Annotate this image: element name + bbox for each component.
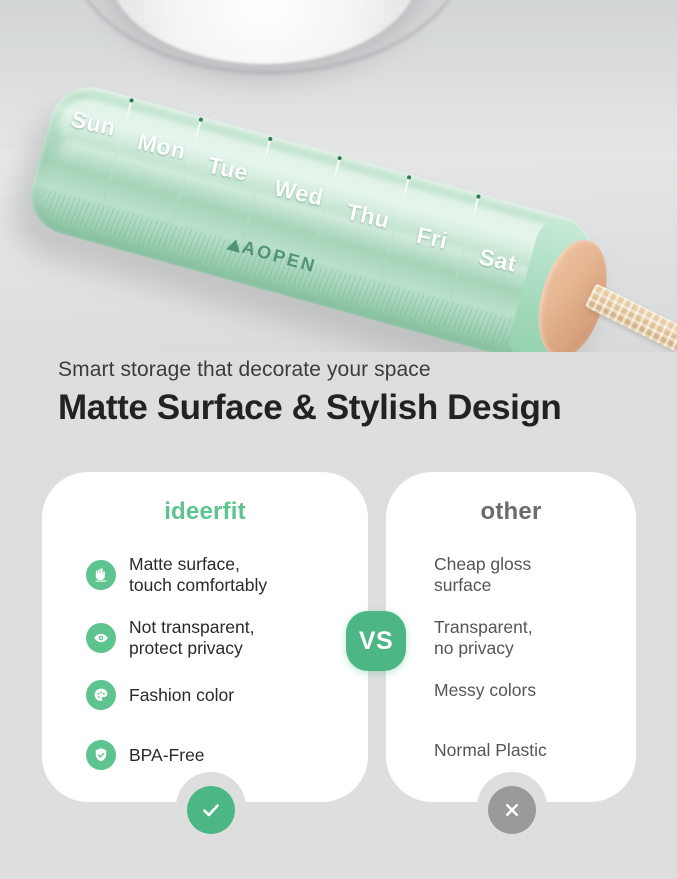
cross-icon <box>500 798 524 822</box>
vs-badge: VS <box>346 611 406 671</box>
headings-block: Smart storage that decorate your space M… <box>0 352 677 464</box>
eye-icon <box>86 623 116 653</box>
feature-text: Messy colors <box>434 680 536 701</box>
feature-text: Matte surface, touch comfortably <box>129 554 267 596</box>
feature-text: Normal Plastic <box>434 740 547 761</box>
card-heading-ideerfit: ideerfit <box>42 498 368 526</box>
check-icon <box>198 797 224 823</box>
shield-check-icon <box>86 740 116 770</box>
feature-row-cheap-gloss: Cheap gloss surface <box>434 554 531 596</box>
comparison-card-ours: ideerfit Matte surface, touch comfortabl… <box>42 472 368 802</box>
feature-text: BPA-Free <box>129 745 205 766</box>
feature-row-transparent: Transparent, no privacy <box>434 617 533 659</box>
feature-row-matte-surface: Matte surface, touch comfortably <box>86 554 267 596</box>
palette-icon <box>86 680 116 710</box>
feature-row-normal-plastic: Normal Plastic <box>434 740 547 761</box>
hand-touch-icon <box>86 560 116 590</box>
comparison-card-other: other Cheap gloss surface Transparent, n… <box>386 472 636 802</box>
comparison-section: ideerfit Matte surface, touch comfortabl… <box>0 464 677 879</box>
page-title: Matte Surface & Stylish Design <box>58 388 561 428</box>
subtitle: Smart storage that decorate your space <box>58 358 431 382</box>
feature-row-bpa-free: BPA-Free <box>86 740 205 770</box>
feature-row-messy-colors: Messy colors <box>434 680 536 701</box>
feature-text: Cheap gloss surface <box>434 554 531 596</box>
product-infographic: Sun Mon Tue Wed Thu Fri Sat AOPEN Smart … <box>0 0 677 879</box>
feature-text: Transparent, no privacy <box>434 617 533 659</box>
feature-text: Fashion color <box>129 685 234 706</box>
card-heading-other: other <box>386 498 636 526</box>
verdict-check-badge <box>187 786 235 834</box>
feature-row-not-transparent: Not transparent, protect privacy <box>86 617 254 659</box>
hero-product-photo: Sun Mon Tue Wed Thu Fri Sat AOPEN <box>0 0 677 352</box>
feature-row-fashion-color: Fashion color <box>86 680 234 710</box>
verdict-cross-badge <box>488 786 536 834</box>
feature-text: Not transparent, protect privacy <box>129 617 254 659</box>
